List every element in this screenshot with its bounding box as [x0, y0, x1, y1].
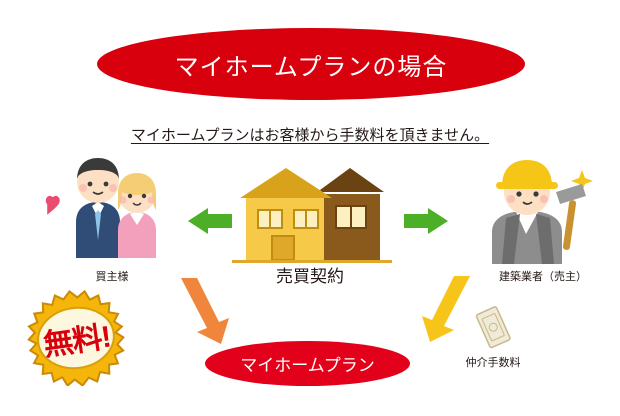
buyer-illustration [40, 150, 185, 270]
buyer-label: 買主様 [52, 268, 172, 284]
arrow-house-to-buyer [188, 208, 232, 239]
free-badge: 無料! [14, 290, 139, 386]
builder-label: 建築業者（売主） [468, 268, 618, 284]
builder-illustration [470, 148, 600, 270]
diagram-canvas: マイホームプランの場合 マイホームプランはお客様から手数料を頂きません。 [0, 0, 620, 416]
house-icon [232, 160, 392, 265]
brokerage-fee-label: 仲介手数料 [438, 354, 548, 370]
carpenter-icon [470, 148, 600, 270]
arrow-house-to-builder [404, 208, 448, 239]
contract-label: 売買契約 [225, 262, 395, 287]
arrow-builder-to-fee [420, 276, 478, 347]
free-badge-text: 無料! [8, 282, 145, 394]
plan-label: マイホームプラン [240, 351, 374, 376]
arrow-buyer-to-plan [175, 278, 231, 349]
title-text: マイホームプランの場合 [175, 47, 448, 82]
subtitle-text: マイホームプランはお客様から手数料を頂きません。 [0, 124, 620, 145]
house-illustration [232, 160, 392, 265]
title-ellipse: マイホームプランの場合 [97, 28, 525, 100]
couple-icon [40, 150, 185, 270]
plan-ellipse: マイホームプラン [205, 341, 410, 386]
